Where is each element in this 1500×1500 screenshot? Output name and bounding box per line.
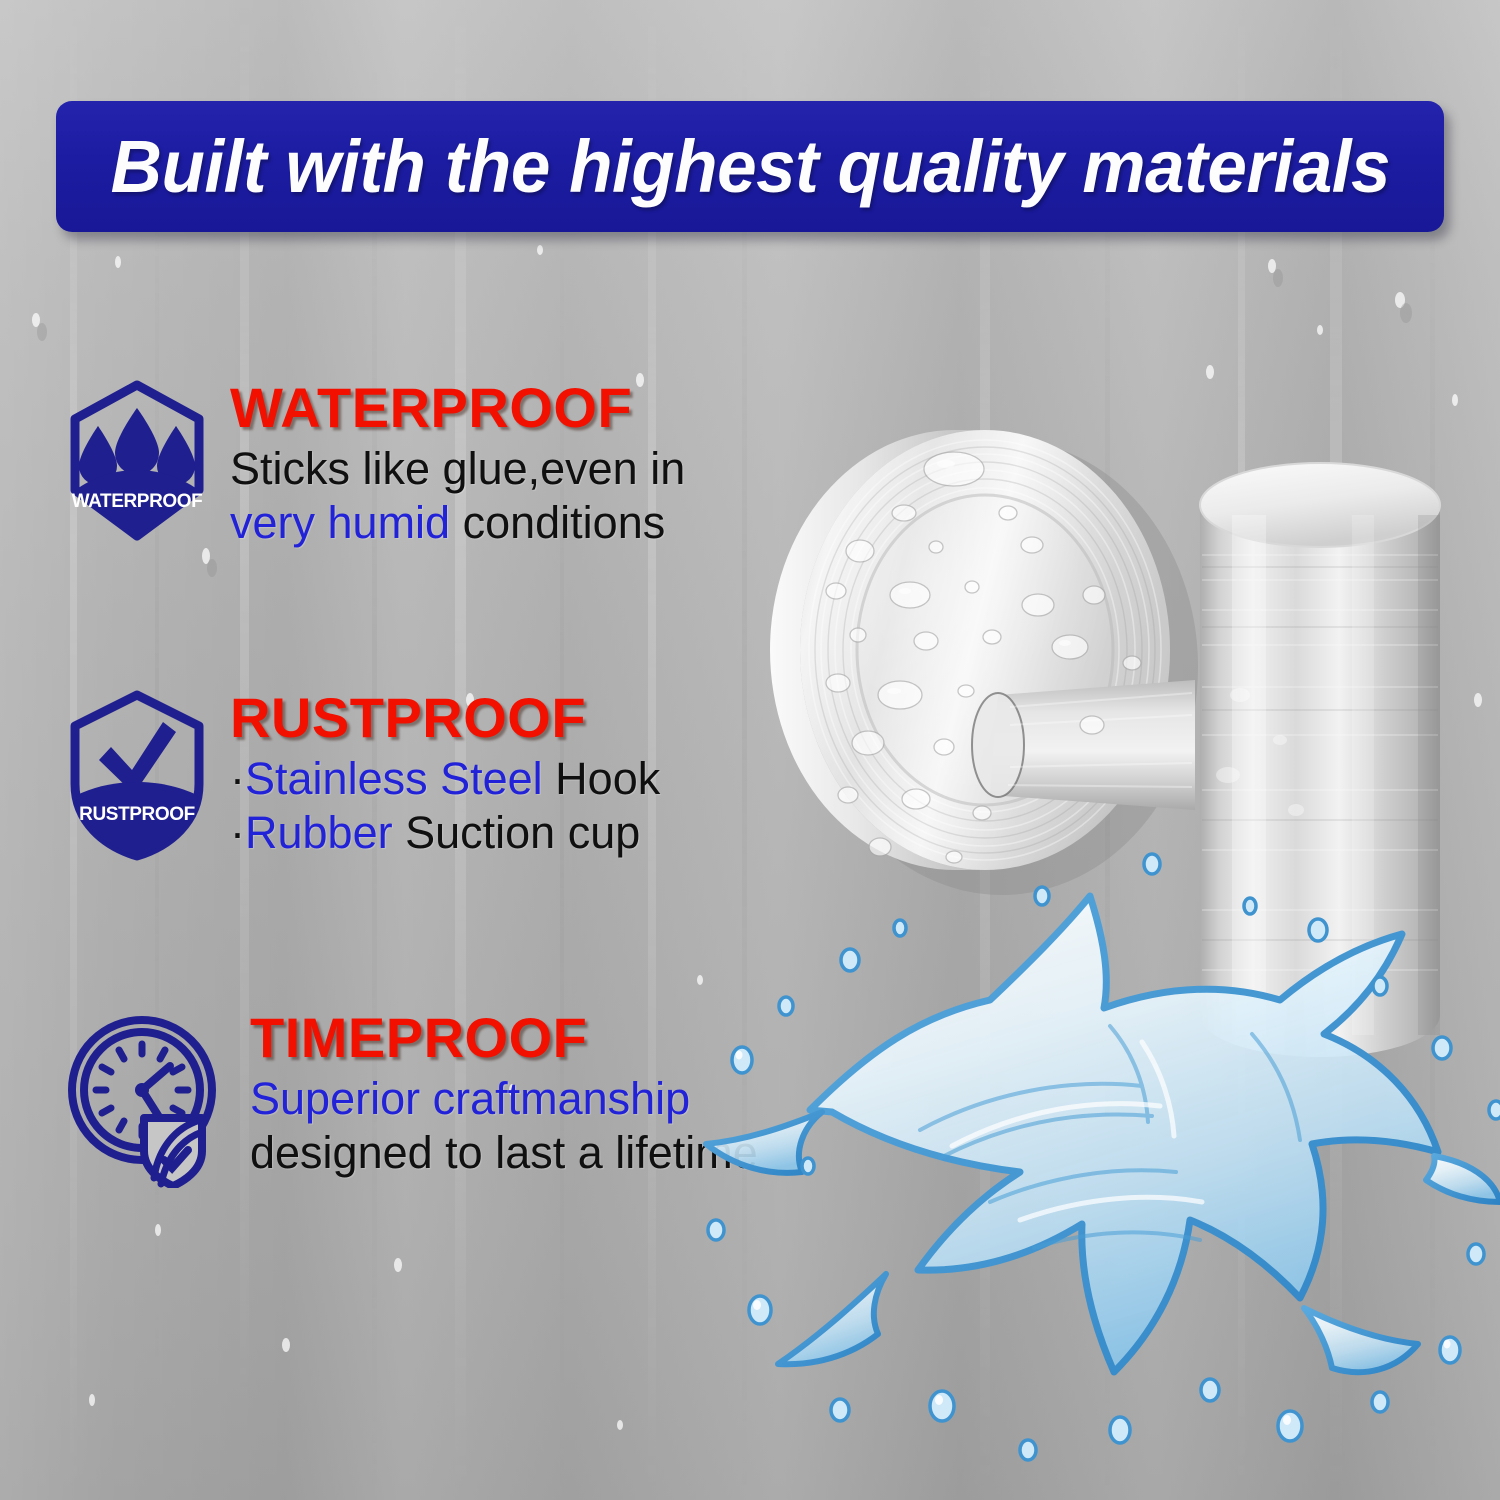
text-segment-highlight: Stainless Steel [245,753,555,804]
text-segment: designed to last a lifetime [250,1127,758,1178]
text-segment: Sticks like glue,even in [230,443,685,494]
water-splash [690,810,1500,1500]
feature-timeproof-title: TIMEPROOF [250,1008,758,1068]
rustproof-shield-check-icon: RUSTPROOF [62,688,212,864]
feature-waterproof: WATERPROOF WATERPROOF Sticks like glue,e… [62,378,685,550]
waterproof-badge-label: WATERPROOF [72,491,203,512]
banner-title: Built with the highest quality materials [110,124,1389,209]
feature-waterproof-title: WATERPROOF [230,378,685,438]
feature-waterproof-text: WATERPROOF Sticks like glue,even in very… [230,378,685,550]
feature-waterproof-line-2: very humid conditions [230,496,685,550]
timeproof-clock-shield-icon [62,1008,232,1188]
text-segment: Hook [555,753,660,804]
feature-rustproof-line-1: ·Stainless Steel Hook [230,752,660,806]
feature-rustproof: RUSTPROOF RUSTPROOF ·Stainless Steel Hoo… [62,688,660,864]
feature-rustproof-line-2: ·Rubber Suction cup [230,806,660,860]
bullet-glyph: · [230,807,245,858]
text-segment-highlight: Superior craftmanship [250,1073,690,1124]
text-segment: Suction cup [405,807,640,858]
feature-timeproof-line-2: designed to last a lifetime [250,1126,758,1180]
feature-waterproof-line-1: Sticks like glue,even in [230,442,685,496]
feature-timeproof: TIMEPROOF Superior craftmanship designed… [62,1008,758,1188]
header-banner: Built with the highest quality materials [56,101,1444,232]
text-segment-highlight: Rubber [245,807,405,858]
bullet-glyph: · [230,753,245,804]
product-feature-image: Built with the highest quality materials… [0,0,1500,1500]
feature-timeproof-line-1: Superior craftmanship [250,1072,758,1126]
feature-timeproof-text: TIMEPROOF Superior craftmanship designed… [250,1008,758,1180]
text-segment-highlight: very humid [230,497,463,548]
feature-rustproof-title: RUSTPROOF [230,688,660,748]
waterproof-droplets-hexagon-icon: WATERPROOF [62,378,212,546]
text-segment: conditions [463,497,666,548]
rustproof-badge-label: RUSTPROOF [79,804,195,825]
feature-rustproof-text: RUSTPROOF ·Stainless Steel Hook ·Rubber … [230,688,660,860]
